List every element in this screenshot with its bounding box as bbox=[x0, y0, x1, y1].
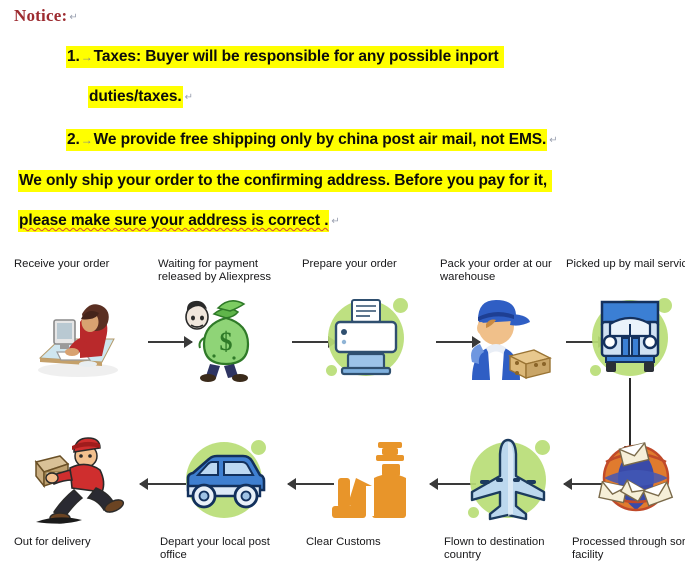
tab-mark: → bbox=[80, 50, 94, 64]
flow-step-label: Clear Customs bbox=[306, 536, 434, 549]
flowchart-row-bottom: Out for delivery bbox=[0, 424, 685, 582]
post-van-icon bbox=[176, 434, 272, 526]
flow-step-label: Waiting for payment released by Aliexpre… bbox=[158, 258, 286, 285]
flow-step-out-for-delivery: Out for delivery bbox=[14, 424, 142, 582]
flow-step-art bbox=[14, 290, 142, 386]
flow-step-clear-customs: Clear Customs bbox=[306, 424, 434, 582]
notice-line-3: 2.→We provide free shipping only by chin… bbox=[66, 131, 557, 149]
notice-line-4-text: We only ship your order to the confirmin… bbox=[19, 172, 547, 189]
customs-officer-icon bbox=[322, 434, 418, 526]
flow-step-art bbox=[440, 290, 568, 386]
paragraph-return-mark: ↵ bbox=[329, 216, 339, 227]
flow-step-art bbox=[566, 290, 685, 386]
notice-line-5-text: please make sure your address is correct… bbox=[19, 212, 328, 229]
notice-line-3-number: 2. bbox=[67, 131, 80, 148]
notice-line-3-text: We provide free shipping only by china p… bbox=[94, 131, 547, 148]
person-at-computer-icon bbox=[30, 292, 126, 384]
notice-line-1-text: Taxes: Buyer will be responsible for any… bbox=[94, 48, 499, 65]
flow-step-processed-through-sort-facility: Processed through sort facility bbox=[572, 424, 685, 582]
globe-mail-sorting-icon bbox=[588, 434, 684, 526]
airplane-icon bbox=[460, 434, 556, 526]
flow-step-art: $ bbox=[158, 290, 286, 386]
mail-truck-icon bbox=[582, 292, 678, 384]
paragraph-return-mark: ↵ bbox=[183, 92, 193, 103]
paragraph-return-mark: ↵ bbox=[67, 12, 78, 23]
flow-step-art bbox=[444, 432, 572, 528]
flowchart-row-top: Receive your order bbox=[0, 258, 685, 416]
tab-mark: → bbox=[80, 133, 94, 147]
svg-text:$: $ bbox=[220, 327, 233, 356]
flow-step-depart-your-local-post-office: Depart your local post office bbox=[160, 424, 288, 582]
notice-line-2-text: duties/taxes. bbox=[89, 88, 182, 105]
flow-step-label: Out for delivery bbox=[14, 536, 142, 549]
flow-step-label: Prepare your order bbox=[302, 258, 430, 271]
flow-step-art bbox=[302, 290, 430, 386]
flow-step-art bbox=[160, 432, 288, 528]
flow-step-label: Depart your local post office bbox=[160, 536, 288, 563]
flow-step-label: Picked up by mail service bbox=[566, 258, 685, 271]
paragraph-return-mark: ↵ bbox=[547, 135, 557, 146]
delivery-man-running-icon bbox=[30, 434, 126, 526]
shipping-process-flowchart: Receive your order bbox=[0, 258, 685, 586]
flow-step-label: Processed through sort facility bbox=[572, 536, 685, 563]
notice-block: Notice:↵ 1.→Taxes: Buyer will be respons… bbox=[0, 0, 685, 252]
flow-step-flown-to-destination-country: Flown to destination country bbox=[444, 424, 572, 582]
flow-step-receive-your-order: Receive your order bbox=[14, 258, 142, 416]
notice-line-2: duties/taxes.↵ bbox=[88, 88, 193, 106]
notice-heading: Notice:↵ bbox=[14, 6, 78, 26]
notice-heading-text: Notice: bbox=[14, 6, 67, 25]
money-bag-running-icon: $ bbox=[174, 292, 270, 384]
flow-step-label: Pack your order at our warehouse bbox=[440, 258, 568, 285]
printer-icon bbox=[318, 292, 414, 384]
flow-step-prepare-your-order: Prepare your order bbox=[302, 258, 430, 416]
flow-step-art bbox=[14, 432, 142, 528]
flow-step-pack-your-order: Pack your order at our warehouse bbox=[440, 258, 568, 416]
worker-packing-boxes-icon bbox=[456, 292, 552, 384]
notice-line-1: 1.→Taxes: Buyer will be responsible for … bbox=[66, 48, 504, 66]
notice-line-5: please make sure your address is correct… bbox=[18, 212, 340, 230]
flow-step-art bbox=[306, 432, 434, 528]
flow-step-label: Receive your order bbox=[14, 258, 142, 271]
flow-step-art bbox=[572, 432, 685, 528]
flow-step-label: Flown to destination country bbox=[444, 536, 572, 563]
notice-line-4: We only ship your order to the confirmin… bbox=[18, 172, 552, 190]
flow-step-waiting-for-payment: Waiting for payment released by Aliexpre… bbox=[158, 258, 286, 416]
notice-line-1-number: 1. bbox=[67, 48, 80, 65]
